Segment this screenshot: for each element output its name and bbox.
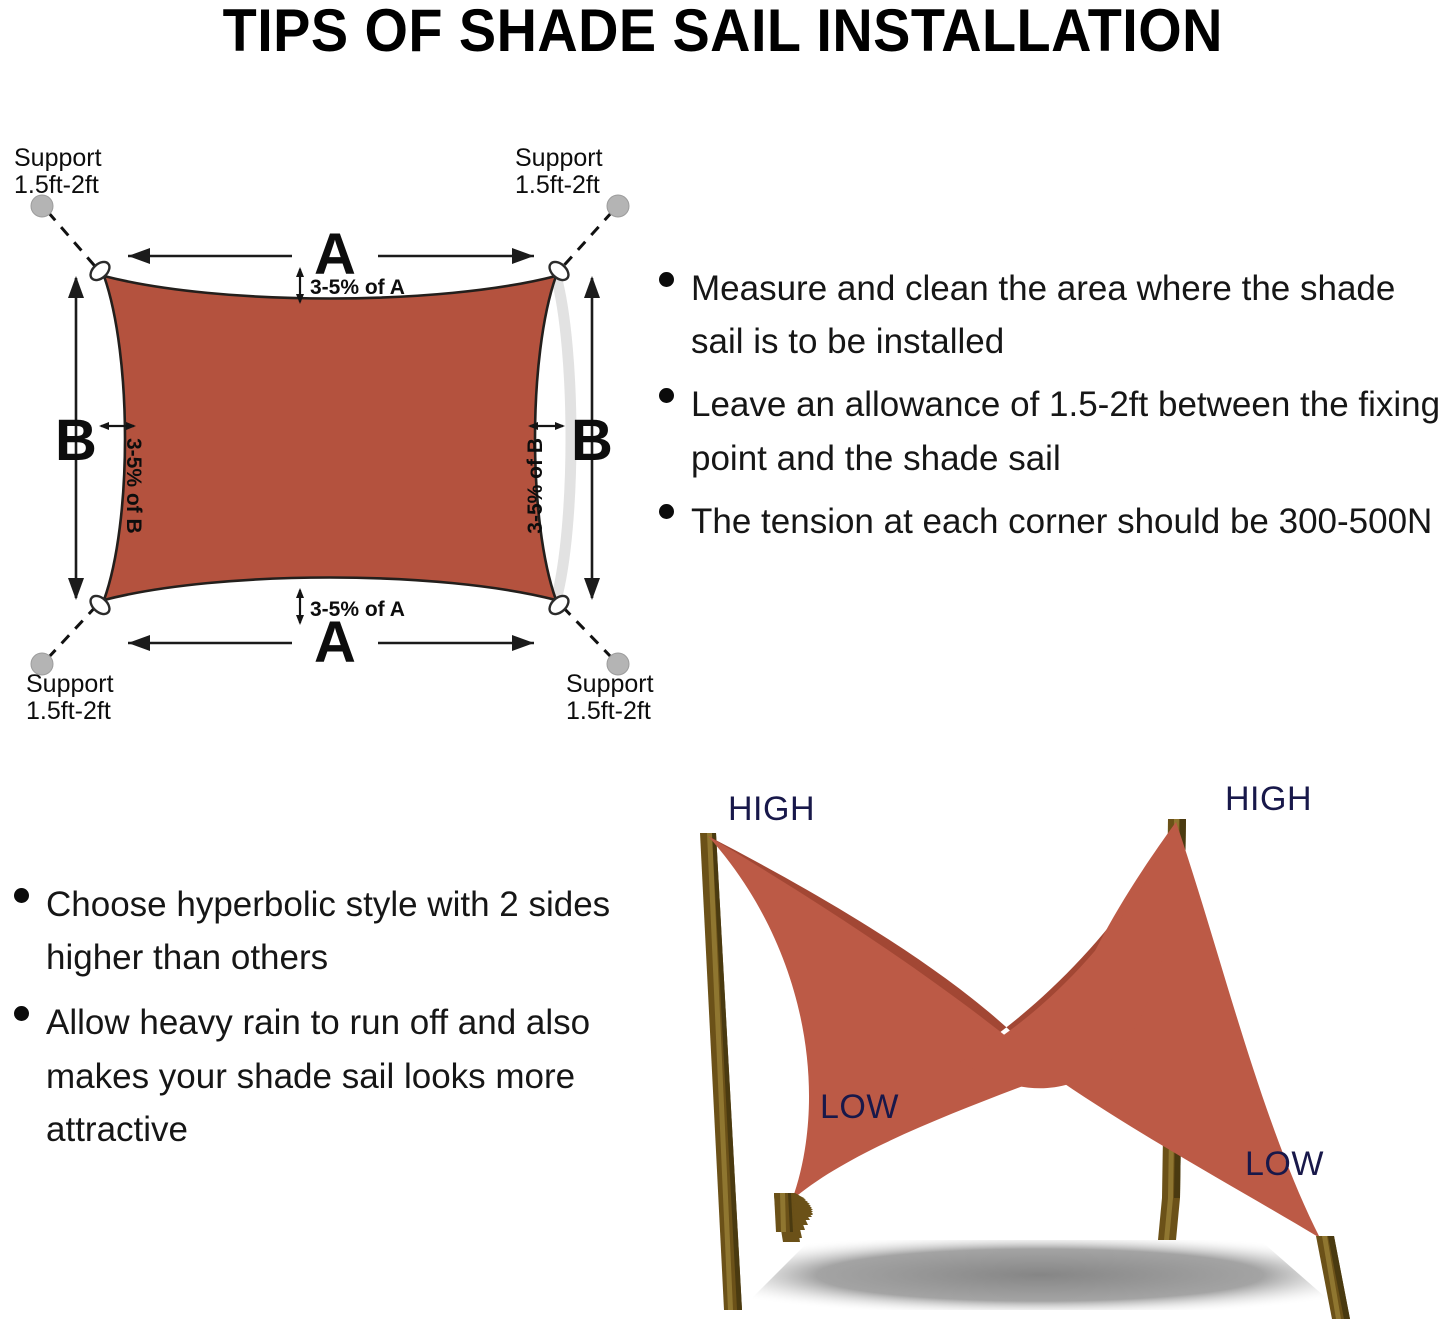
support-label-top-right-line2: 1.5ft-2ft — [515, 171, 600, 199]
sag-label-bottom: 3-5% of A — [310, 598, 405, 621]
dimension-b-left: B — [55, 276, 97, 600]
list-item: The tension at each corner should be 300… — [645, 495, 1445, 548]
support-dot-top-right — [607, 195, 629, 217]
post-high-right-foot — [1158, 1198, 1180, 1240]
list-item: Allow heavy rain to run off and also mak… — [0, 996, 620, 1156]
sag-arrow-right-out — [555, 422, 565, 430]
list-item: Measure and clean the area where the sha… — [645, 262, 1445, 368]
list-item: Leave an allowance of 1.5-2ft between th… — [645, 378, 1445, 484]
arrowhead-bottom-b-left — [68, 578, 84, 600]
installation-tips-list: Measure and clean the area where the sha… — [645, 262, 1445, 662]
dash-line-top-left — [48, 212, 100, 272]
sag-label-left: 3-5% of B — [122, 438, 145, 534]
edge-cable-band — [556, 276, 571, 600]
hyperbolic-style-tips-list: Choose hyperbolic style with 2 sides hig… — [0, 878, 620, 1198]
bullet-dot-icon — [659, 388, 674, 403]
arrowhead-top-b-right — [584, 276, 600, 298]
arrowhead-left-a-bottom — [128, 635, 150, 651]
support-label-top-left: Support 1.5ft-2ft — [14, 144, 102, 199]
style-tip-text: Choose hyperbolic style with 2 sides hig… — [46, 878, 620, 984]
hyperbolic-diagram-svg: HIGH HIGH LOW LOW — [660, 770, 1445, 1319]
tips-bullet-list: Measure and clean the area where the sha… — [645, 262, 1445, 548]
post-low-left — [774, 1193, 813, 1242]
label-high-right: HIGH — [1225, 780, 1312, 818]
tip-text: The tension at each corner should be 300… — [691, 495, 1445, 548]
dash-line-bottom-right — [558, 602, 612, 658]
support-label-top-right: Support 1.5ft-2ft — [515, 144, 603, 199]
support-label-bottom-left-line2: 1.5ft-2ft — [26, 697, 111, 725]
sag-arrow-bottom-up — [296, 588, 304, 598]
support-label-top-left-line2: 1.5ft-2ft — [14, 171, 99, 199]
rectangular-sail-diagram: A 3-5% of A A 3-5% of A — [0, 150, 660, 730]
support-label-bottom-right-line2: 1.5ft-2ft — [566, 697, 651, 725]
hyperbolic-sail-illustration: HIGH HIGH LOW LOW — [660, 770, 1445, 1319]
sag-label-right: 3-5% of B — [524, 438, 547, 534]
support-label-bottom-right-line1: Support — [566, 670, 654, 698]
sail-surface-left-wing — [708, 836, 1052, 1200]
sag-marker-bottom: 3-5% of A — [296, 588, 405, 625]
dimension-label-b-left: B — [55, 408, 97, 473]
arrowhead-bottom-b-right — [584, 578, 600, 600]
label-low-left: LOW — [820, 1088, 899, 1126]
sag-label-top: 3-5% of A — [310, 276, 405, 299]
post-high-left — [700, 833, 742, 1310]
dash-line-top-right — [558, 212, 612, 272]
sag-arrow-bottom-down — [296, 615, 304, 625]
tip-text: Leave an allowance of 1.5-2ft between th… — [691, 378, 1445, 484]
rect-diagram-svg: A 3-5% of A A 3-5% of A — [0, 150, 660, 730]
page-title: TIPS OF SHADE SAIL INSTALLATION — [222, 0, 1222, 62]
tip-text: Measure and clean the area where the sha… — [691, 262, 1445, 368]
sag-marker-right: 3-5% of B — [524, 422, 565, 534]
bullet-dot-icon — [14, 888, 29, 903]
bullet-dot-icon — [14, 1006, 29, 1021]
sag-arrow-top-up — [296, 267, 304, 277]
arrowhead-right-a-top — [512, 248, 534, 264]
support-label-top-right-line1: Support — [515, 144, 603, 172]
ground-shadow — [740, 1240, 1340, 1310]
arrowhead-left-a-top — [128, 248, 150, 264]
support-label-bottom-left: Support 1.5ft-2ft — [26, 670, 114, 725]
sag-arrow-left-out — [99, 422, 109, 430]
style-tip-text: Allow heavy rain to run off and also mak… — [46, 996, 620, 1156]
bullet-dot-icon — [659, 272, 674, 287]
bullet-dot-icon — [659, 504, 674, 519]
support-label-bottom-left-line1: Support — [26, 670, 114, 698]
support-label-bottom-right: Support 1.5ft-2ft — [566, 670, 654, 725]
dimension-b-right: B — [571, 276, 613, 600]
arrowhead-top-b-left — [68, 276, 84, 298]
arrowhead-right-a-bottom — [512, 635, 534, 651]
label-low-right: LOW — [1245, 1145, 1324, 1183]
dash-line-bottom-left — [48, 602, 100, 658]
shade-sail-shape — [104, 276, 556, 600]
list-item: Choose hyperbolic style with 2 sides hig… — [0, 878, 620, 984]
support-label-top-left-line1: Support — [14, 144, 102, 172]
style-bullet-list: Choose hyperbolic style with 2 sides hig… — [0, 878, 620, 1156]
dimension-label-b-right: B — [571, 408, 613, 473]
title-bar: TIPS OF SHADE SAIL INSTALLATION — [0, 0, 1445, 62]
label-high-left: HIGH — [728, 790, 815, 828]
